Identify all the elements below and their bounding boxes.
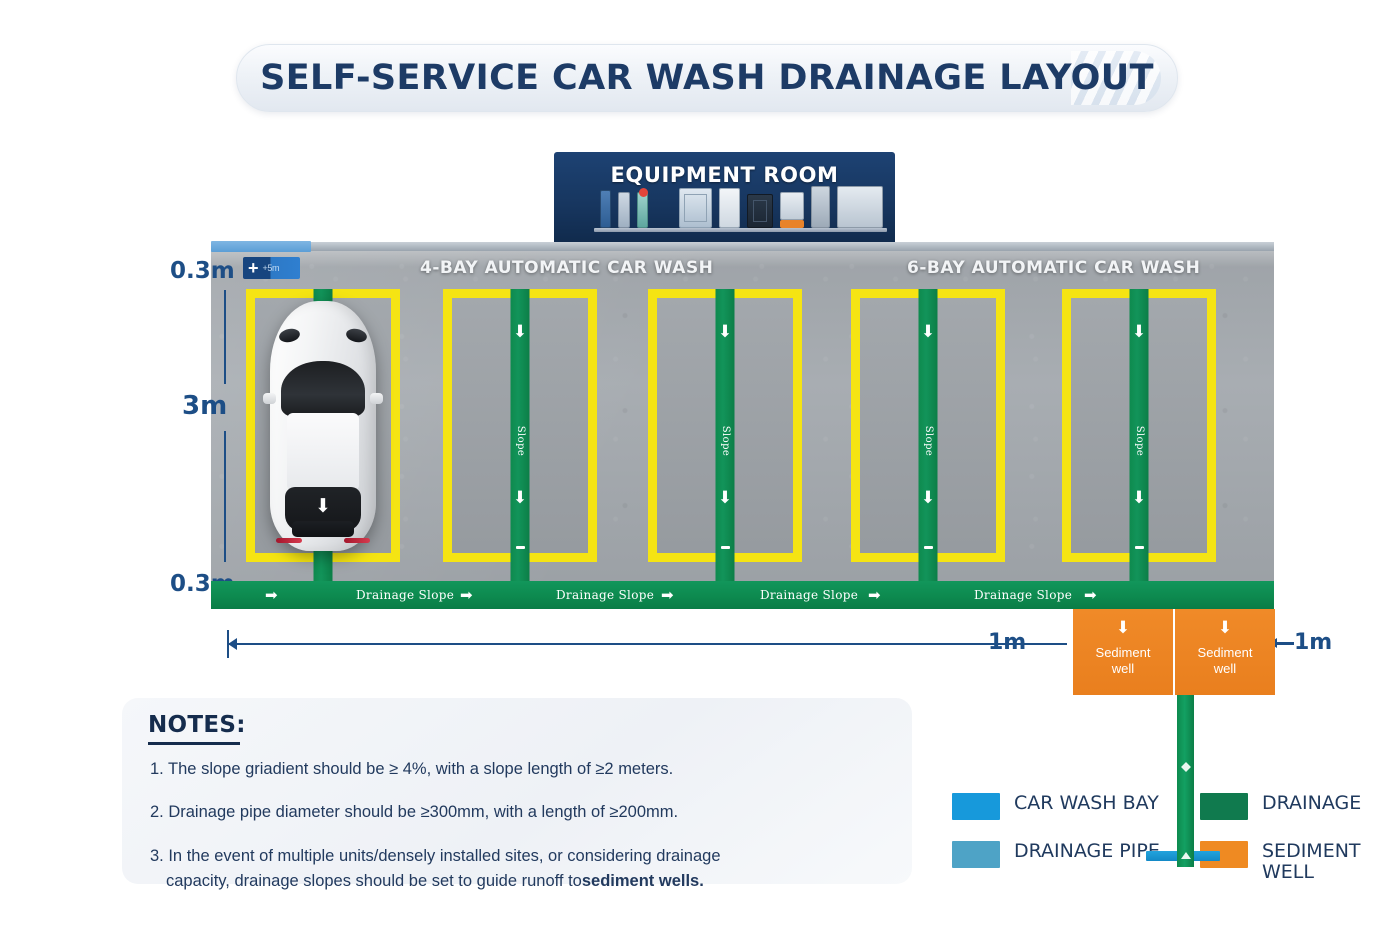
- legend-swatch: [952, 793, 1000, 820]
- sediment-well-label: Sediment well: [1073, 645, 1173, 677]
- flow-arrow-down-icon: ⬇: [920, 321, 936, 343]
- note-item: 3. In the event of multiple units/densel…: [150, 844, 892, 894]
- dosing-unit-group: [780, 192, 804, 228]
- drain-tick: [721, 546, 730, 549]
- drainage-slope-label: Drainage Slope: [356, 588, 454, 602]
- measurement-badge: + +5m: [243, 257, 300, 279]
- bay-drain-label: Slope: [923, 426, 934, 456]
- legend-swatch: [1200, 793, 1248, 820]
- bay-drain-channel: ⬇ Slope ⬇: [716, 289, 735, 593]
- car-wash-bay[interactable]: ⬇ Slope ⬇: [1062, 289, 1216, 562]
- dosing-legs-icon: [780, 220, 804, 228]
- drainage-slope-label: Drainage Slope: [974, 588, 1072, 602]
- legend-label: SEDIMENT WELL: [1262, 841, 1361, 883]
- drain-tick: [1135, 546, 1144, 549]
- note-item: 1. The slope griadient should be ≥ 4%, w…: [150, 758, 892, 780]
- title-banner: SELF-SERVICE CAR WASH DRAINAGE LAYOUT: [236, 44, 1178, 112]
- bay-drain-label: Slope: [515, 426, 526, 456]
- note-item: 2. Drainage pipe diameter should be ≥300…: [150, 801, 892, 823]
- notes-heading: NOTES:: [148, 712, 246, 738]
- pipe-flow-arrow-icon: [1181, 852, 1191, 859]
- legend-label: DRAINAGE: [1262, 793, 1361, 814]
- flow-arrow-down-icon: ⬇: [717, 321, 733, 343]
- flow-arrow-down-icon: ⬇: [512, 487, 528, 509]
- car-wash-bay[interactable]: ⬇ Slope ⬇: [443, 289, 597, 562]
- flow-arrow-down-icon: ⬇: [1116, 619, 1130, 636]
- bay-drain-channel: ⬇ Slope ⬇: [919, 289, 938, 593]
- dosing-box-icon: [780, 192, 804, 220]
- vertical-dimension-group: 0.3m 3m 0.3m: [170, 246, 230, 591]
- width-dimension-line: [228, 643, 1064, 645]
- slope-arrow-icon: ➡: [1084, 588, 1097, 603]
- cabinet-dark-icon: [747, 194, 774, 228]
- sediment-well[interactable]: ⬇ Sediment well: [1073, 609, 1173, 695]
- car-wash-bay[interactable]: ⬇ Slope ⬇ ⬇: [246, 289, 400, 562]
- note-item-line1: 3. In the event of multiple units/densel…: [150, 847, 721, 865]
- electrical-cabinet-icon: [811, 186, 830, 228]
- equipment-machines-group: [600, 184, 883, 228]
- car-rear-bumper: [292, 521, 354, 537]
- slope-arrow-icon: ➡: [460, 588, 473, 603]
- dimension-dash: [1041, 643, 1067, 645]
- sediment-well[interactable]: ⬇ Sediment well: [1175, 609, 1275, 695]
- dimension-label-width: 1m: [988, 630, 1026, 655]
- badge-value: +5m: [263, 263, 280, 273]
- legend-label: DRAINAGE PIPE: [1014, 841, 1160, 862]
- parked-car-graphic: ⬇: [255, 298, 391, 553]
- bay-drain-channel: ⬇ Slope ⬇: [1130, 289, 1149, 593]
- flow-arrow-down-icon: ⬇: [1131, 487, 1147, 509]
- car-wash-bay[interactable]: ⬇ Slope ⬇: [851, 289, 1005, 562]
- dimension-line-upper: [224, 290, 226, 384]
- slope-arrow-icon: ➡: [661, 588, 674, 603]
- drainage-pipe-top-strip: [211, 241, 311, 252]
- legend-item-drainage-pipe: DRAINAGE PIPE: [952, 841, 1160, 868]
- mirror-right-icon: [370, 393, 383, 404]
- slope-arrow-icon: ➡: [868, 588, 881, 603]
- drain-tick: [924, 546, 933, 549]
- drainage-slope-label: Drainage Slope: [760, 588, 858, 602]
- bay-drain-label: Slope: [720, 426, 731, 456]
- drain-tick: [516, 546, 525, 549]
- car-topview: ⬇: [270, 301, 376, 551]
- drainage-slope-band: ➡ Drainage Slope ➡ Drainage Slope ➡ Drai…: [211, 581, 1274, 609]
- note-item-line2-prefix: capacity, drainage slopes should be set …: [166, 869, 582, 894]
- main-drainage-pipe-vertical: [1177, 695, 1194, 867]
- dimension-line-lower: [224, 431, 226, 562]
- sediment-well-label: Sediment well: [1175, 645, 1275, 677]
- flow-arrow-down-icon: ⬇: [512, 321, 528, 343]
- equipment-shelf: [594, 228, 887, 232]
- car-wash-bay[interactable]: ⬇ Slope ⬇: [648, 289, 802, 562]
- legend: CAR WASH BAY DRAINAGE PIPE DRAINAGE SEDI…: [952, 793, 1382, 893]
- slab-top-edge: [211, 242, 1274, 251]
- ro-system-icon: [679, 188, 711, 228]
- taillight-left-icon: [276, 538, 302, 543]
- legend-item-sediment-well: SEDIMENT WELL: [1200, 841, 1361, 883]
- slope-arrow-icon: ➡: [265, 588, 278, 603]
- dimension-label-middle: 3m: [182, 391, 227, 421]
- drainage-slope-label: Drainage Slope: [556, 588, 654, 602]
- car-flow-arrow-icon: ⬇: [315, 497, 331, 516]
- wide-cabinet-icon: [837, 186, 883, 228]
- plus-icon: +: [248, 259, 259, 277]
- flow-arrow-down-icon: ⬇: [1218, 619, 1232, 636]
- flow-arrow-down-icon: ⬇: [1131, 321, 1147, 343]
- pressure-tank-icon: [637, 192, 648, 228]
- bay-drain-label: Slope: [1134, 426, 1145, 456]
- water-tank-icon: [600, 190, 611, 228]
- control-panel-icon: [719, 188, 740, 228]
- car-roof: [287, 413, 359, 491]
- legend-item-car-wash-bay: CAR WASH BAY: [952, 793, 1159, 820]
- bay-drain-channel: ⬇ Slope ⬇: [511, 289, 530, 593]
- notes-panel: NOTES: 1. The slope griadient should be …: [122, 698, 912, 884]
- note-item-line2-bold: sediment wells.: [582, 872, 704, 890]
- dimension-label-width-right: 1m: [1294, 630, 1332, 655]
- sediment-wells-group: ⬇ Sediment well ⬇ Sediment well: [1073, 609, 1275, 695]
- legend-label: CAR WASH BAY: [1014, 793, 1159, 814]
- mirror-left-icon: [263, 393, 276, 404]
- dimension-arrow-right-icon: [1277, 642, 1294, 645]
- legend-item-drainage: DRAINAGE: [1200, 793, 1361, 820]
- diagram-canvas: SELF-SERVICE CAR WASH DRAINAGE LAYOUT EQ…: [0, 0, 1400, 933]
- pipe-joint-marker: [1181, 762, 1191, 772]
- taillight-right-icon: [344, 538, 370, 543]
- page-title: SELF-SERVICE CAR WASH DRAINAGE LAYOUT: [260, 58, 1154, 98]
- notes-underline: [148, 742, 240, 745]
- section-label-6bay: 6-BAY AUTOMATIC CAR WASH: [907, 258, 1200, 278]
- equipment-room-panel: EQUIPMENT ROOM: [554, 152, 895, 244]
- flow-arrow-down-icon: ⬇: [717, 487, 733, 509]
- legend-swatch: [952, 841, 1000, 868]
- section-label-4bay: 4-BAY AUTOMATIC CAR WASH: [420, 258, 713, 278]
- flow-arrow-down-icon: ⬇: [920, 487, 936, 509]
- filter-tank-icon: [618, 192, 629, 228]
- dimension-label-top: 0.3m: [170, 258, 235, 284]
- car-windshield: [281, 361, 365, 417]
